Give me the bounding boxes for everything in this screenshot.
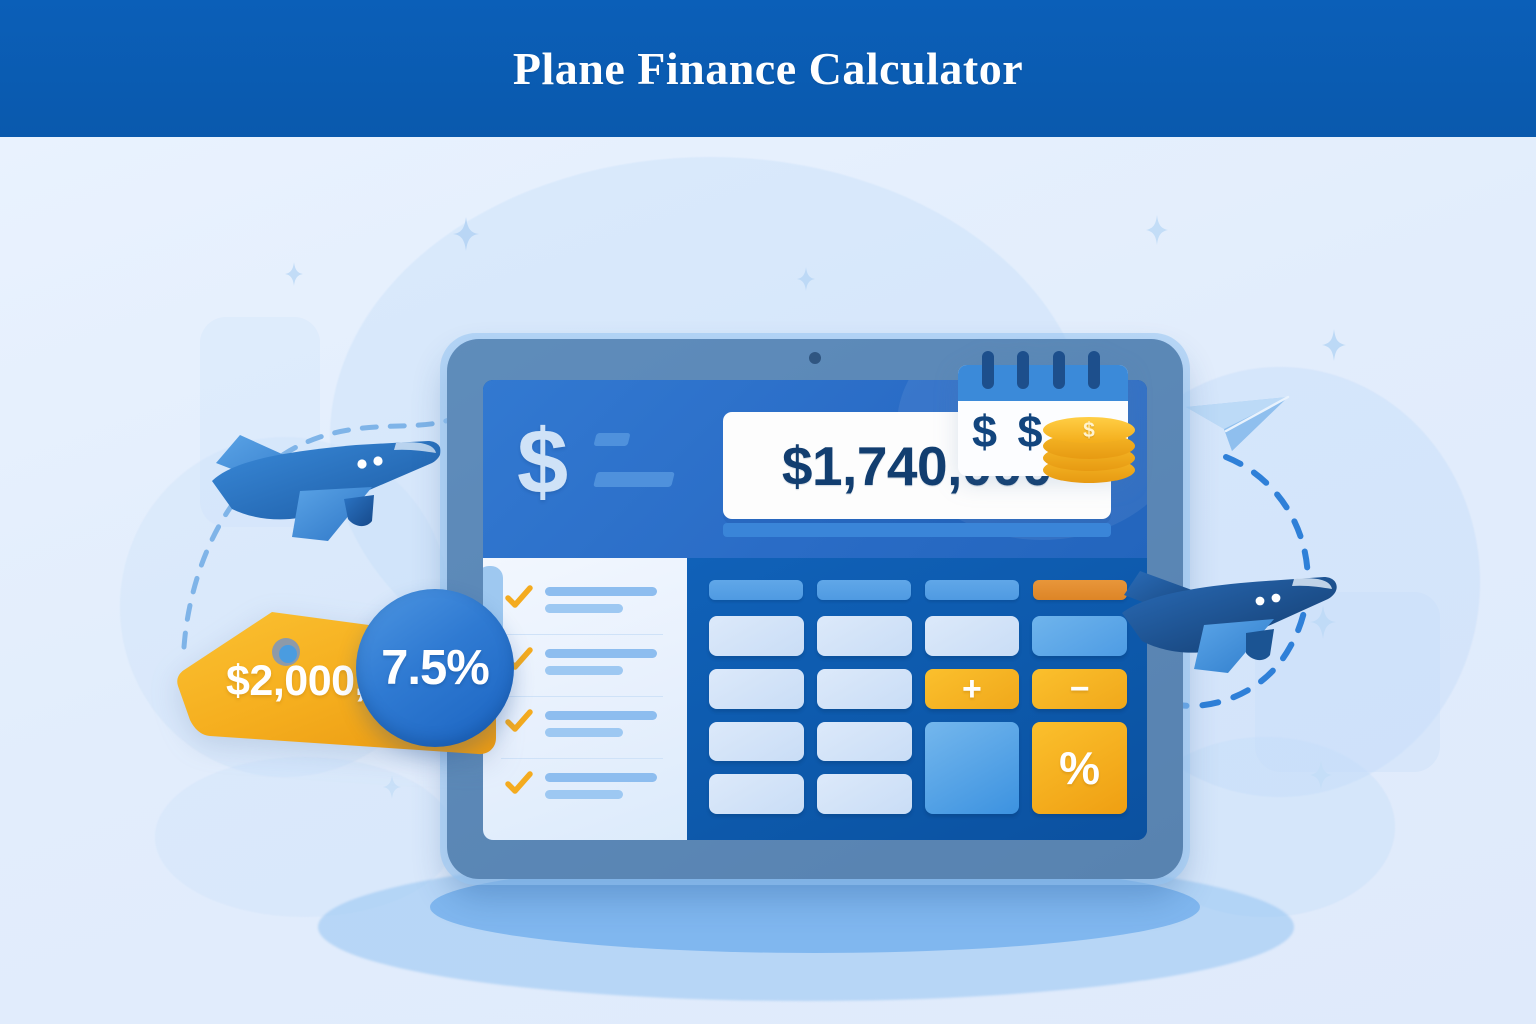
check-icon: [505, 708, 533, 736]
key-percent[interactable]: %: [1032, 722, 1127, 815]
calendar-ring: [982, 351, 994, 389]
key-r2c2[interactable]: [817, 669, 912, 709]
memory-slot-clear[interactable]: [1033, 580, 1127, 600]
placeholder-bar: [593, 433, 630, 446]
key-plus[interactable]: +: [925, 669, 1020, 709]
calculator-keypad: + − %: [687, 558, 1147, 840]
placeholder-line: [545, 587, 657, 596]
checklist-item-lines: [545, 768, 657, 799]
memory-slot-3[interactable]: [925, 580, 1019, 600]
camera-icon: [809, 352, 821, 364]
sparkle-icon: [797, 267, 815, 291]
calendar-ring: [1017, 351, 1029, 389]
airplane-left-icon: [196, 417, 466, 567]
currency-icon: $: [517, 416, 568, 508]
coin-top: $: [1043, 417, 1135, 443]
key-r3c1[interactable]: [709, 722, 804, 762]
memory-slot-1[interactable]: [709, 580, 803, 600]
placeholder-line: [545, 666, 623, 675]
checklist-item-lines: [545, 644, 657, 675]
placeholder-bar: [593, 472, 675, 487]
page-title: Plane Finance Calculator: [513, 42, 1023, 95]
sparkle-icon: [383, 775, 401, 799]
checklist-item[interactable]: [483, 758, 687, 820]
interest-rate-badge: 7.5%: [356, 589, 514, 747]
keypad-grid: + − %: [709, 616, 1127, 814]
placeholder-line: [545, 773, 657, 782]
key-minus[interactable]: −: [1032, 669, 1127, 709]
key-r2c1[interactable]: [709, 669, 804, 709]
key-enter[interactable]: [925, 722, 1020, 815]
airplane-right-icon: [1118, 555, 1348, 695]
checklist-panel: [483, 558, 687, 840]
placeholder-line: [545, 604, 623, 613]
coin-stack-icon: $: [1043, 415, 1135, 493]
display-underline: [723, 523, 1111, 537]
checklist-item[interactable]: [483, 572, 687, 634]
calendar-ring: [1088, 351, 1100, 389]
calendar-ring: [1053, 351, 1065, 389]
sparkle-icon: [1322, 329, 1346, 361]
key-r4c2[interactable]: [817, 774, 912, 814]
key-r1c4[interactable]: [1032, 616, 1127, 656]
check-icon: [505, 584, 533, 612]
calendar-dollar-marks: $ $: [972, 409, 1047, 454]
key-r4c1[interactable]: [709, 774, 804, 814]
placeholder-line: [545, 649, 657, 658]
check-icon: [505, 770, 533, 798]
key-r1c2[interactable]: [817, 616, 912, 656]
keypad-slot-row: [709, 580, 1127, 600]
key-r3c2[interactable]: [817, 722, 912, 762]
app-header: Plane Finance Calculator: [0, 0, 1536, 137]
sparkle-icon: [1310, 760, 1332, 790]
sparkle-icon: [1146, 215, 1168, 245]
hero-illustration: $ $1,740,000: [0, 137, 1536, 1024]
sparkle-icon: [453, 217, 479, 251]
placeholder-line: [545, 711, 657, 720]
placeholder-line: [545, 790, 623, 799]
interest-rate-value: 7.5%: [381, 640, 489, 696]
illustration-canvas: Plane Finance Calculator: [0, 0, 1536, 1024]
placeholder-line: [545, 728, 623, 737]
key-r1c3[interactable]: [925, 616, 1020, 656]
paper-plane-icon: [1184, 385, 1294, 465]
checklist-item-lines: [545, 706, 657, 737]
key-r1c1[interactable]: [709, 616, 804, 656]
sparkle-icon: [285, 262, 303, 286]
memory-slot-2[interactable]: [817, 580, 911, 600]
checklist-item[interactable]: [483, 696, 687, 758]
coin-dollar-icon: $: [1083, 420, 1095, 441]
checklist-item-lines: [545, 582, 657, 613]
